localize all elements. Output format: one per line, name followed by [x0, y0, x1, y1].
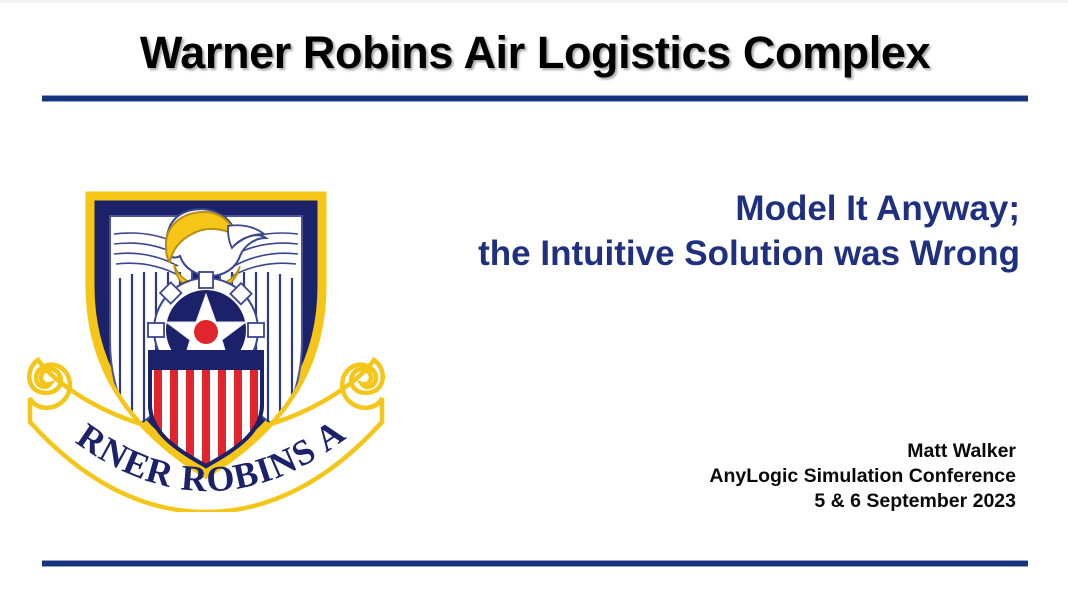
slide-canvas: Warner Robins Air Logistics Complex — [0, 0, 1068, 600]
divider-rule-bottom — [42, 560, 1028, 567]
slide-subtitle: Model It Anyway; the Intuitive Solution … — [300, 186, 1020, 276]
roundel-center-dot — [194, 320, 218, 344]
subtitle-line-1: Model It Anyway; — [300, 186, 1020, 231]
author-name: Matt Walker — [416, 439, 1016, 464]
author-block: Matt Walker AnyLogic Simulation Conferen… — [416, 439, 1016, 514]
page-title: Warner Robins Air Logistics Complex — [42, 24, 1028, 82]
subtitle-line-2: the Intuitive Solution was Wrong — [300, 231, 1020, 276]
divider-rule-top — [42, 95, 1028, 102]
conference-date: 5 & 6 September 2023 — [416, 489, 1016, 514]
top-edge-strip — [0, 0, 1068, 3]
conference-name: AnyLogic Simulation Conference — [416, 464, 1016, 489]
